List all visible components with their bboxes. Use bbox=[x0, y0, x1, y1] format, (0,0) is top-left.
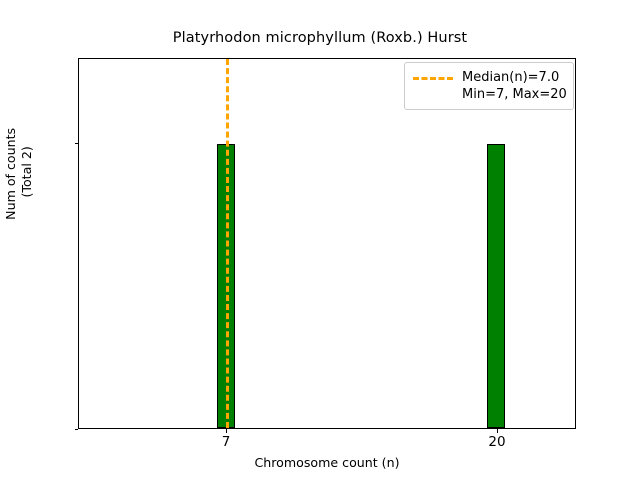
dashed-line-icon bbox=[413, 73, 453, 83]
legend-label-minmax: Min=7, Max=20 bbox=[462, 86, 567, 103]
plot-inner bbox=[79, 59, 575, 428]
x-axis-label: Chromosome count (n) bbox=[78, 455, 576, 470]
figure-canvas: Platyrhodon microphyllum (Roxb.) Hurst 0… bbox=[0, 0, 640, 480]
plot-area bbox=[78, 58, 576, 429]
ytick-mark-1 bbox=[75, 143, 79, 144]
xtick-mark-7 bbox=[226, 429, 227, 433]
legend-item-minmax: Min=7, Max=20 bbox=[413, 86, 565, 103]
xtick-mark-20 bbox=[497, 429, 498, 433]
ytick-mark-0 bbox=[75, 429, 79, 430]
legend-swatch-empty bbox=[413, 90, 453, 100]
xtick-label-20: 20 bbox=[488, 434, 505, 450]
y-axis-label: Num of counts (Total 2) bbox=[3, 9, 35, 339]
legend-label-median: Median(n)=7.0 bbox=[462, 69, 559, 86]
chart-title: Platyrhodon microphyllum (Roxb.) Hurst bbox=[0, 30, 640, 46]
legend-item-median: Median(n)=7.0 bbox=[413, 69, 565, 86]
median-line bbox=[226, 59, 229, 428]
bar-20 bbox=[487, 144, 505, 428]
xtick-label-7: 7 bbox=[222, 434, 231, 450]
legend: Median(n)=7.0 Min=7, Max=20 bbox=[404, 62, 574, 110]
